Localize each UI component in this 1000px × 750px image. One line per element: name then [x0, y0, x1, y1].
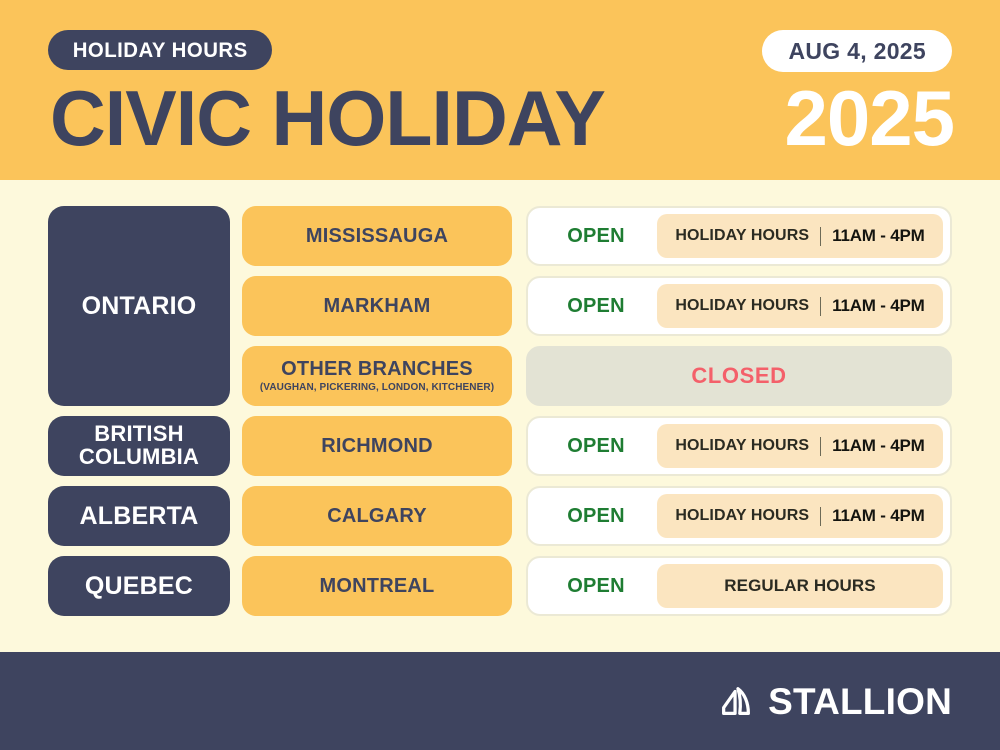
- province-label: ONTARIO: [82, 293, 197, 319]
- schedule-board: ONTARIO BRITISH COLUMBIA ALBERTA QUEBEC …: [0, 180, 1000, 652]
- branch-cell: MISSISSAUGA: [242, 206, 512, 266]
- separator-icon: [820, 437, 821, 456]
- branch-name: MARKHAM: [324, 296, 431, 317]
- status-badge: OPEN: [535, 225, 657, 248]
- hours-pill: HOLIDAY HOURS 11AM - 4PM: [657, 494, 943, 538]
- province-label: ALBERTA: [80, 503, 199, 529]
- branch-sublabel: (VAUGHAN, PICKERING, LONDON, KITCHENER): [260, 382, 494, 394]
- table-row: MARKHAM OPEN HOLIDAY HOURS 11AM - 4PM: [242, 276, 952, 336]
- date-badge-label: AUG 4, 2025: [788, 40, 926, 63]
- branch-name: MONTREAL: [320, 576, 435, 597]
- hours-pill: HOLIDAY HOURS 11AM - 4PM: [657, 284, 943, 328]
- stallion-horse-mark-icon: [717, 682, 755, 720]
- status-badge: OPEN: [535, 575, 657, 598]
- branch-cell: MONTREAL: [242, 556, 512, 616]
- status-cell: OPEN HOLIDAY HOURS 11AM - 4PM: [526, 206, 952, 266]
- province-cell-ontario: ONTARIO: [48, 206, 230, 406]
- brand-logo: STALLION: [717, 652, 952, 750]
- hours-label: REGULAR HOURS: [724, 576, 875, 596]
- hours-time: 11AM - 4PM: [832, 226, 924, 246]
- title-row: CIVIC HOLIDAY 2025: [50, 76, 954, 160]
- hours-time: 11AM - 4PM: [832, 436, 924, 456]
- brand-name: STALLION: [768, 683, 952, 720]
- branch-name: MISSISSAUGA: [306, 226, 448, 247]
- branch-name: OTHER BRANCHES: [281, 359, 473, 380]
- hours-time: 11AM - 4PM: [832, 506, 924, 526]
- separator-icon: [820, 297, 821, 316]
- branch-cell: MARKHAM: [242, 276, 512, 336]
- holiday-hours-badge: HOLIDAY HOURS: [48, 30, 272, 70]
- branch-name: RICHMOND: [321, 436, 433, 457]
- separator-icon: [820, 227, 821, 246]
- province-cell-quebec: QUEBEC: [48, 556, 230, 616]
- holiday-hours-badge-label: HOLIDAY HOURS: [73, 40, 248, 61]
- page-title: CIVIC HOLIDAY: [50, 80, 605, 156]
- status-badge: OPEN: [535, 295, 657, 318]
- status-badge: CLOSED: [691, 363, 786, 389]
- separator-icon: [820, 507, 821, 526]
- poster-footer: STALLION: [0, 652, 1000, 750]
- holiday-hours-poster: HOLIDAY HOURS AUG 4, 2025 CIVIC HOLIDAY …: [0, 0, 1000, 750]
- branch-cell: CALGARY: [242, 486, 512, 546]
- branch-cell: OTHER BRANCHES (VAUGHAN, PICKERING, LOND…: [242, 346, 512, 406]
- province-column: ONTARIO BRITISH COLUMBIA ALBERTA QUEBEC: [48, 206, 230, 626]
- hours-label: HOLIDAY HOURS: [675, 227, 809, 245]
- hours-pill: HOLIDAY HOURS 11AM - 4PM: [657, 214, 943, 258]
- status-cell: OPEN HOLIDAY HOURS 11AM - 4PM: [526, 416, 952, 476]
- status-cell: CLOSED: [526, 346, 952, 406]
- branch-name: CALGARY: [327, 506, 427, 527]
- title-year: 2025: [784, 80, 954, 156]
- table-row: RICHMOND OPEN HOLIDAY HOURS 11AM - 4PM: [242, 416, 952, 476]
- table-row: MONTREAL OPEN REGULAR HOURS: [242, 556, 952, 616]
- branch-cell: RICHMOND: [242, 416, 512, 476]
- table-row: OTHER BRANCHES (VAUGHAN, PICKERING, LOND…: [242, 346, 952, 406]
- status-cell: OPEN REGULAR HOURS: [526, 556, 952, 616]
- province-cell-alberta: ALBERTA: [48, 486, 230, 546]
- date-badge: AUG 4, 2025: [762, 30, 952, 72]
- province-cell-british-columbia: BRITISH COLUMBIA: [48, 416, 230, 476]
- province-label: QUEBEC: [85, 573, 193, 599]
- hours-label: HOLIDAY HOURS: [675, 437, 809, 455]
- status-cell: OPEN HOLIDAY HOURS 11AM - 4PM: [526, 276, 952, 336]
- status-cell: OPEN HOLIDAY HOURS 11AM - 4PM: [526, 486, 952, 546]
- poster-header: HOLIDAY HOURS AUG 4, 2025 CIVIC HOLIDAY …: [0, 0, 1000, 180]
- status-badge: OPEN: [535, 435, 657, 458]
- table-row: MISSISSAUGA OPEN HOLIDAY HOURS 11AM - 4P…: [242, 206, 952, 266]
- branch-rows-column: MISSISSAUGA OPEN HOLIDAY HOURS 11AM - 4P…: [242, 206, 952, 626]
- hours-pill: HOLIDAY HOURS 11AM - 4PM: [657, 424, 943, 468]
- hours-label: HOLIDAY HOURS: [675, 507, 809, 525]
- status-badge: OPEN: [535, 505, 657, 528]
- table-row: CALGARY OPEN HOLIDAY HOURS 11AM - 4PM: [242, 486, 952, 546]
- hours-label: HOLIDAY HOURS: [675, 297, 809, 315]
- province-label: BRITISH COLUMBIA: [79, 423, 199, 469]
- hours-pill: REGULAR HOURS: [657, 564, 943, 608]
- hours-time: 11AM - 4PM: [832, 296, 924, 316]
